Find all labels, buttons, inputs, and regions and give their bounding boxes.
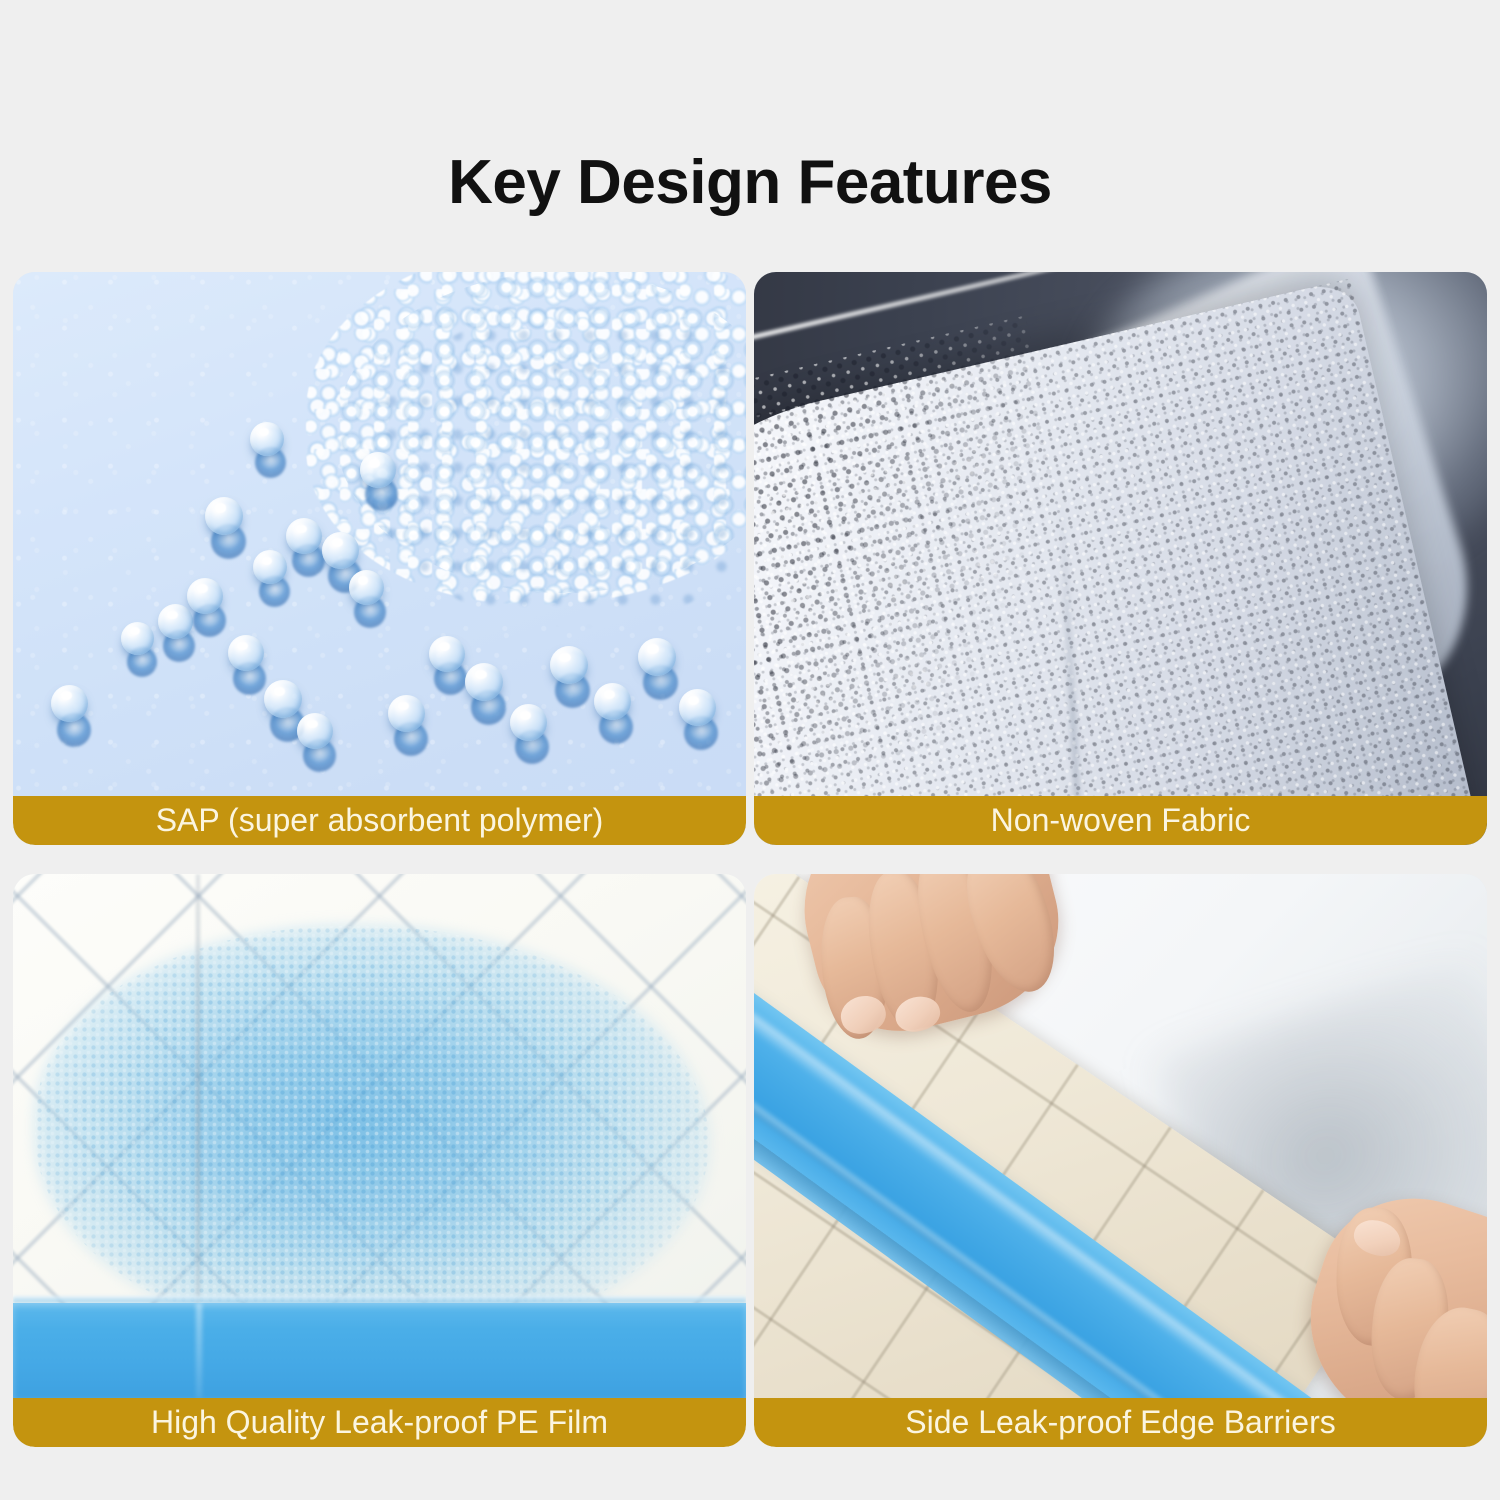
bead [679,689,716,726]
page-title: Key Design Features [0,150,1500,215]
edge-barriers-photo [754,874,1487,1447]
bead [264,680,302,718]
bead [388,695,425,732]
feature-card-pe-film[interactable]: High Quality Leak-proof PE Film [13,874,746,1447]
feature-card-edge-barriers[interactable]: Side Leak-proof Edge Barriers [754,874,1487,1447]
bead [360,452,396,488]
bead [638,638,676,676]
feature-grid: SAP (super absorbent polymer) Non-woven … [13,272,1487,1447]
bead [429,636,465,672]
bead [510,704,547,741]
feature-caption-pe-film: High Quality Leak-proof PE Film [13,1398,746,1447]
bead [250,422,284,456]
bead [121,622,154,655]
feature-card-sap[interactable]: SAP (super absorbent polymer) [13,272,746,845]
feature-caption-sap: SAP (super absorbent polymer) [13,796,746,845]
feature-caption-edge-barriers: Side Leak-proof Edge Barriers [754,1398,1487,1447]
feature-card-non-woven-fabric[interactable]: Non-woven Fabric [754,272,1487,845]
infographic-page: Key Design Features [0,0,1500,1500]
non-woven-fabric-photo [754,272,1487,845]
pe-film-strip [13,1303,746,1398]
bead [228,635,264,671]
feature-caption-non-woven-fabric: Non-woven Fabric [754,796,1487,845]
sap-photo [13,272,746,845]
bead [205,497,243,535]
bead [51,685,88,722]
pe-film-photo [13,874,746,1447]
bead [322,532,359,569]
pe-film-top-edge [13,1296,746,1303]
bead [349,570,384,605]
bead [550,646,588,684]
